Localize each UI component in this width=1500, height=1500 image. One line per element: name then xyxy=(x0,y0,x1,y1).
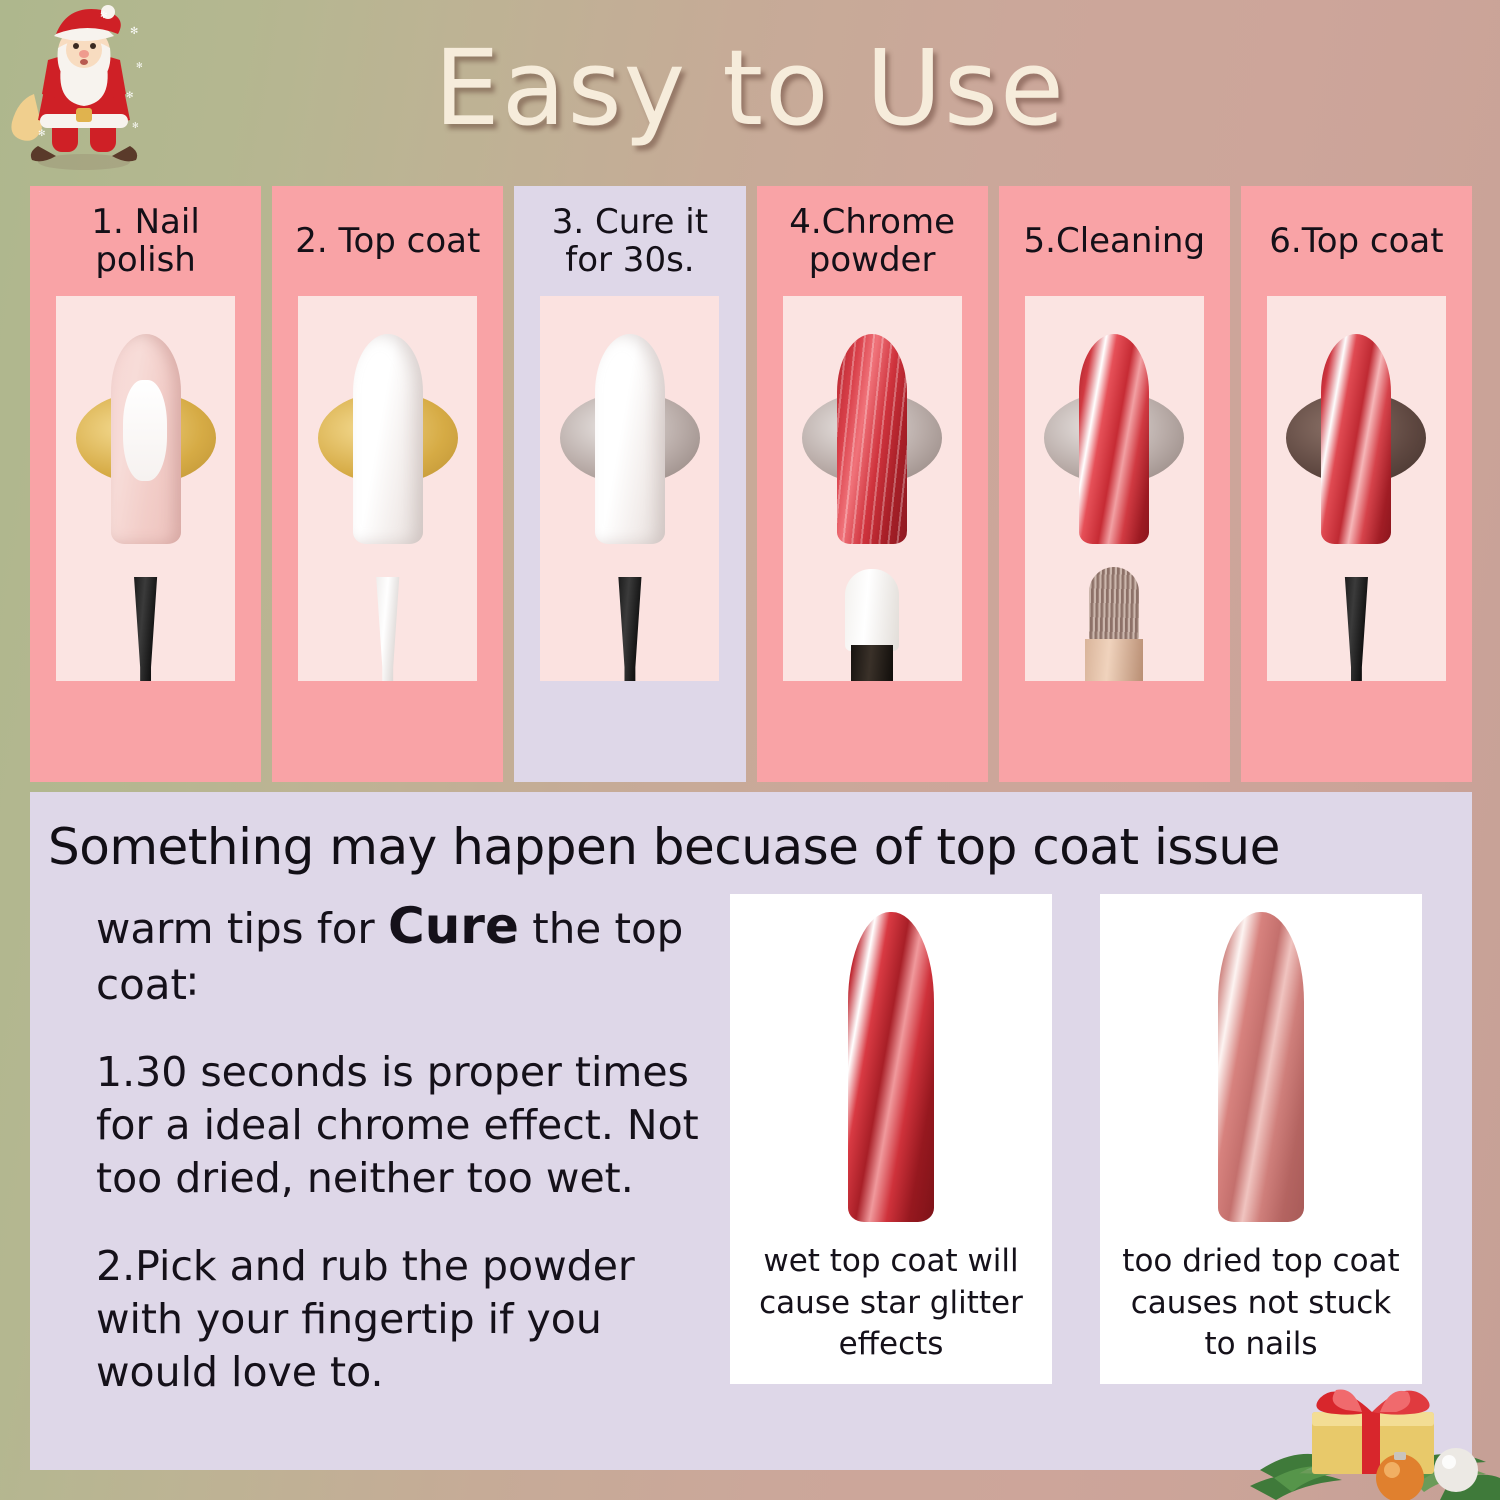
polish-brush-icon xyxy=(613,577,647,681)
comparison-card-dried: too dried top coat causes not stuck to n… xyxy=(1100,894,1422,1384)
sponge-applicator-icon xyxy=(845,569,899,681)
step-card-2: 2. Top coat xyxy=(272,186,503,782)
makeup-brush-icon xyxy=(1081,567,1147,681)
nail-swatch-icon xyxy=(1218,912,1304,1222)
nail-swatch-icon xyxy=(111,334,181,544)
nail-swatch-icon xyxy=(848,912,934,1222)
nail-swatch-icon xyxy=(837,334,907,544)
step-photo-6 xyxy=(1267,296,1446,681)
tip-item-2: 2.Pick and rub the powder with your fing… xyxy=(96,1240,720,1400)
step-photo-3 xyxy=(540,296,719,681)
step-card-5: 5.Cleaning xyxy=(999,186,1230,782)
step-label-2: 2. Top coat xyxy=(272,192,503,290)
step-photo-4 xyxy=(783,296,962,681)
santa-claus-icon: ✻ ✻ ✻ ✻ ✻ ✻ xyxy=(4,2,164,172)
step-label-5: 5.Cleaning xyxy=(999,192,1230,290)
tips-lead-strong: Cure xyxy=(388,897,519,955)
step-card-4: 4.Chromepowder xyxy=(757,186,988,782)
nail-swatch-icon xyxy=(353,334,423,544)
step-label-1: 1. Nail polish xyxy=(30,192,261,290)
step-photo-2 xyxy=(298,296,477,681)
svg-text:✻: ✻ xyxy=(100,10,108,20)
step-label-6: 6.Top coat xyxy=(1241,192,1472,290)
comparison-caption-wet: wet top coat will cause star glitter eff… xyxy=(730,1241,1052,1384)
tips-lead-prefix: warm tips for xyxy=(96,904,388,953)
svg-text:✻: ✻ xyxy=(126,90,134,100)
step-card-6: 6.Top coat xyxy=(1241,186,1472,782)
polish-brush-icon xyxy=(1339,577,1373,681)
tips-column: warm tips for Cure the top coat∶ 1.30 se… xyxy=(30,894,720,1400)
step-photo-1 xyxy=(56,296,235,681)
steps-row: 1. Nail polish 2. Top coat 3. Cure itfor… xyxy=(30,186,1472,782)
step-photo-5 xyxy=(1025,296,1204,681)
svg-text:✻: ✻ xyxy=(130,26,138,37)
infographic-page: ✻ ✻ ✻ ✻ ✻ ✻ Easy to Use 1. Nail polish 2… xyxy=(0,0,1500,1500)
nail-swatch-icon xyxy=(1079,334,1149,544)
nail-swatch-icon xyxy=(595,334,665,544)
step-label-3: 3. Cure itfor 30s. xyxy=(514,192,745,290)
nail-swatch-icon xyxy=(1321,334,1391,544)
christmas-gift-icon xyxy=(1250,1320,1500,1500)
svg-text:✻: ✻ xyxy=(132,121,139,130)
polish-brush-icon xyxy=(129,577,163,681)
step-label-4: 4.Chromepowder xyxy=(757,192,988,290)
step-card-1: 1. Nail polish xyxy=(30,186,261,782)
comparison-card-wet: wet top coat will cause star glitter eff… xyxy=(730,894,1052,1384)
tips-lead: warm tips for Cure the top coat∶ xyxy=(96,894,720,1012)
svg-text:✻: ✻ xyxy=(38,128,46,138)
step-card-3: 3. Cure itfor 30s. xyxy=(514,186,745,782)
tip-item-1: 1.30 seconds is proper times for a ideal… xyxy=(96,1046,720,1206)
svg-text:✻: ✻ xyxy=(136,61,143,70)
page-title: Easy to Use xyxy=(300,18,1200,158)
topcoat-brush-icon xyxy=(371,577,405,681)
tips-panel-heading: Something may happen becuase of top coat… xyxy=(30,792,1472,876)
